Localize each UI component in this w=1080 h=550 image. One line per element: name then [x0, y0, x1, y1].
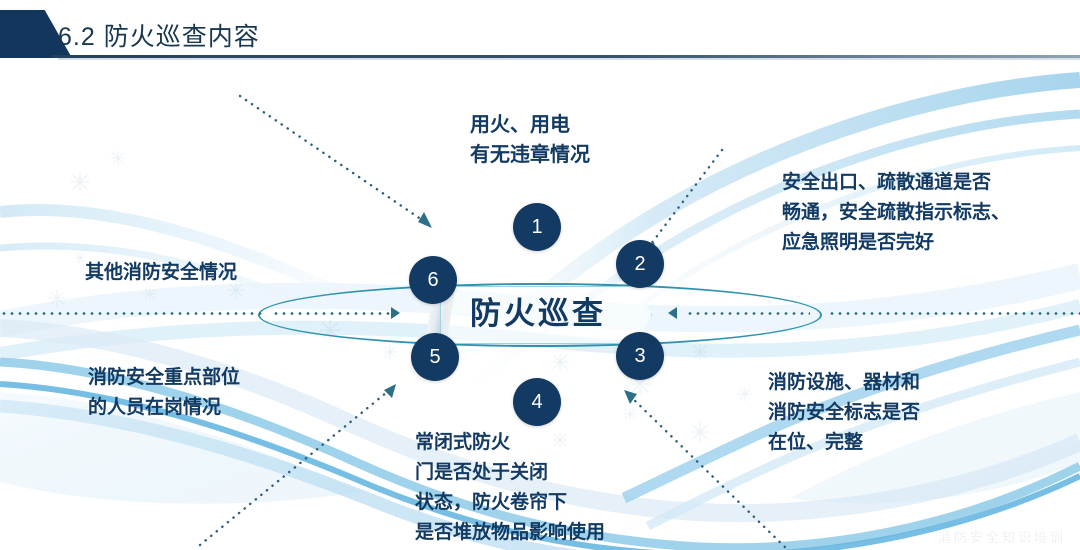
axis-dotline-inner-right — [686, 312, 810, 315]
axis-arrowhead-right — [391, 307, 400, 319]
node-text-3: 消防设施、器材和 消防安全标志是否 在位、完整 — [768, 368, 920, 458]
slide-canvas: 6.2 防火巡查内容 — [0, 0, 1080, 550]
node-circle-1[interactable]: 1 — [513, 203, 561, 251]
node-circle-6[interactable]: 6 — [409, 256, 457, 304]
node-text-6: 其他消防安全情况 — [85, 258, 237, 288]
axis-dotline-inner-left — [272, 312, 390, 315]
node-text-2: 安全出口、疏散通道是否 畅通，安全疏散指示标志、 应急照明是否完好 — [782, 168, 1010, 258]
node-circle-4[interactable]: 4 — [513, 378, 561, 426]
node-text-4: 常闭式防火 门是否处于关闭 状态，防火卷帘下 是否堆放物品影响使用 — [415, 428, 605, 548]
axis-dotline-right — [828, 312, 1080, 315]
node-text-1: 用火、用电 有无违章情况 — [470, 110, 590, 170]
node-text-5: 消防安全重点部位 的人员在岗情况 — [88, 363, 240, 423]
watermark-text: 消防安全知识培训 — [938, 527, 1066, 546]
axis-arrowhead-left — [668, 307, 677, 319]
node-circle-5[interactable]: 5 — [411, 333, 459, 381]
node-circle-2[interactable]: 2 — [616, 240, 664, 288]
axis-dotline-left — [0, 312, 262, 315]
center-label: 防火巡查 — [470, 288, 606, 340]
node-circle-3[interactable]: 3 — [616, 332, 664, 380]
